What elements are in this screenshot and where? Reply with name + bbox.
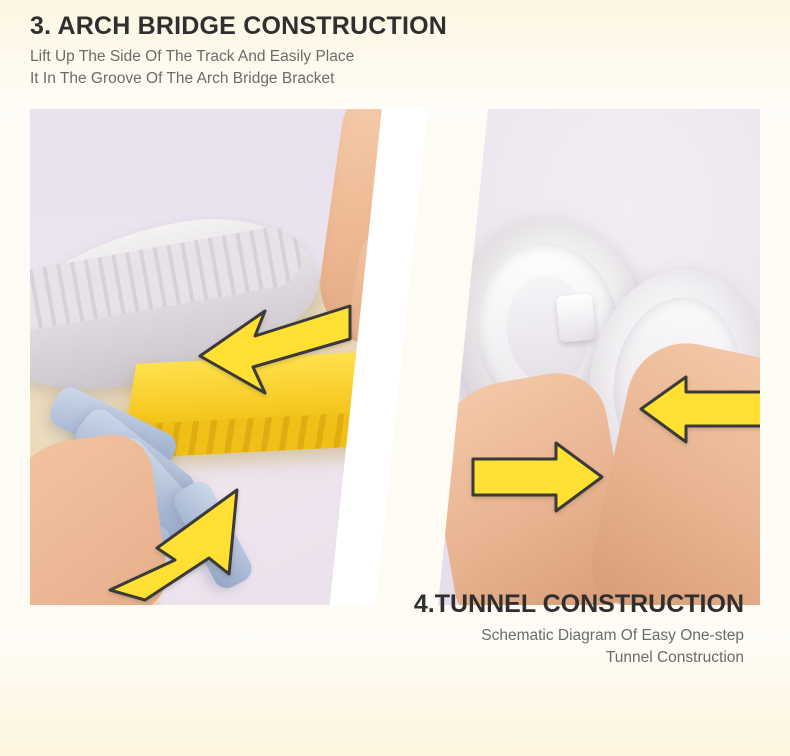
section-4-subtitle-line-1: Schematic Diagram Of Easy One-step: [481, 627, 744, 644]
section-3-title: 3. ARCH BRIDGE CONSTRUCTION: [30, 10, 500, 42]
section-4-header: 4.TUNNEL CONSTRUCTION Schematic Diagram …: [324, 588, 744, 669]
section-3-header: 3. ARCH BRIDGE CONSTRUCTION Lift Up The …: [30, 10, 500, 90]
arrow-track-into-groove: [195, 301, 355, 406]
right-photo-tunnel: [430, 109, 760, 605]
section-4-subtitle: Schematic Diagram Of Easy One-step Tunne…: [324, 625, 744, 669]
photo-collage: [30, 109, 760, 605]
arrow-tunnel-left-push: [470, 439, 605, 517]
section-4-title: 4.TUNNEL CONSTRUCTION: [324, 588, 744, 620]
section-3-subtitle: Lift Up The Side Of The Track And Easily…: [30, 46, 500, 90]
section-3-subtitle-line-1: Lift Up The Side Of The Track And Easily…: [30, 48, 354, 65]
arrow-tunnel-right-push: [638, 374, 760, 446]
section-3-subtitle-line-2: It In The Groove Of The Arch Bridge Brac…: [30, 70, 334, 87]
tunnel-clip-tab: [556, 294, 596, 343]
instruction-page: 3. ARCH BRIDGE CONSTRUCTION Lift Up The …: [0, 0, 790, 756]
section-4-subtitle-line-2: Tunnel Construction: [606, 649, 744, 666]
arrow-bracket-pieces: [105, 482, 245, 602]
